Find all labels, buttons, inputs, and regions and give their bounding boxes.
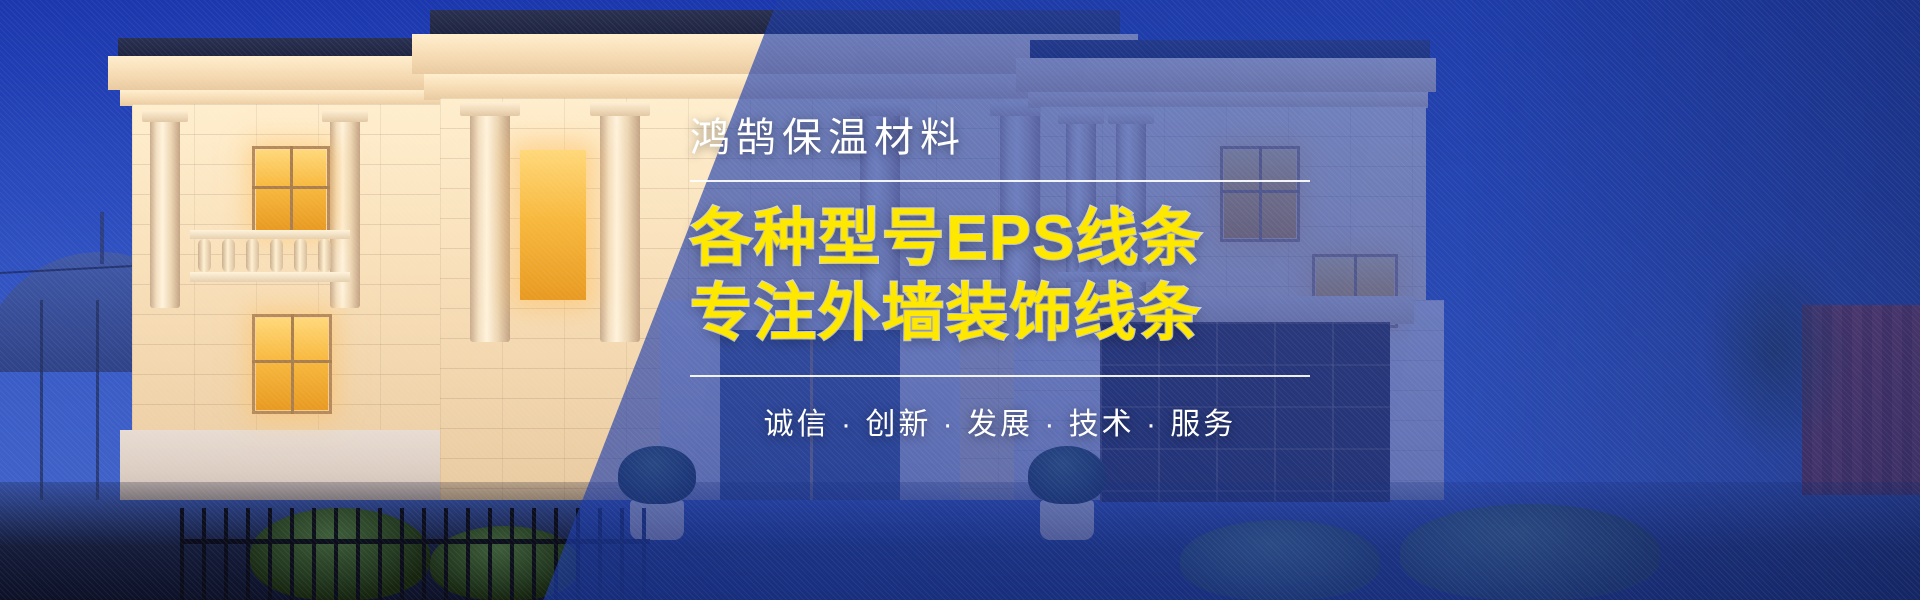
promo-banner: 鸿鹄保温材料 各种型号EPS线条 专注外墙装饰线条 诚信 · 创新 · 发展 ·… xyxy=(0,0,1920,600)
balustrade-rail-left-bottom xyxy=(190,272,350,282)
divider-top xyxy=(690,180,1310,182)
baluster xyxy=(318,239,331,272)
scaffold-pole xyxy=(40,300,43,500)
window-center-glow xyxy=(520,150,586,300)
baluster xyxy=(246,239,259,272)
window-mullion-v-2 xyxy=(291,314,294,414)
scaffold-pole xyxy=(96,300,99,500)
dome-spire xyxy=(100,212,104,264)
window-mullion-h-1 xyxy=(252,186,330,189)
headline-line-1: 各种型号EPS线条 xyxy=(690,204,1310,275)
window-mullion-h-2 xyxy=(252,360,332,363)
column-center-1 xyxy=(470,112,510,342)
window-mullion-v-1 xyxy=(290,146,293,234)
headline-line-2: 专注外墙装饰线条 xyxy=(690,279,1310,350)
baluster xyxy=(270,239,283,272)
column-center-2 xyxy=(600,112,640,342)
baluster xyxy=(198,239,211,272)
baluster xyxy=(222,239,235,272)
tagline: 诚信 · 创新 · 发展 · 技术 · 服务 xyxy=(690,399,1310,443)
banner-text-block: 鸿鹄保温材料 各种型号EPS线条 专注外墙装饰线条 诚信 · 创新 · 发展 ·… xyxy=(690,118,1310,443)
divider-bottom xyxy=(690,375,1310,377)
column-cap-left-1 xyxy=(142,110,188,122)
column-left-1 xyxy=(150,118,180,308)
column-cap-center-2 xyxy=(590,102,650,116)
brand-name: 鸿鹄保温材料 xyxy=(690,118,1310,158)
column-cap-center-1 xyxy=(460,102,520,116)
column-cap-left-2 xyxy=(322,110,368,122)
baluster xyxy=(294,239,307,272)
balustrade-rail-left-top xyxy=(190,230,350,239)
right-vignette xyxy=(1267,0,1920,600)
